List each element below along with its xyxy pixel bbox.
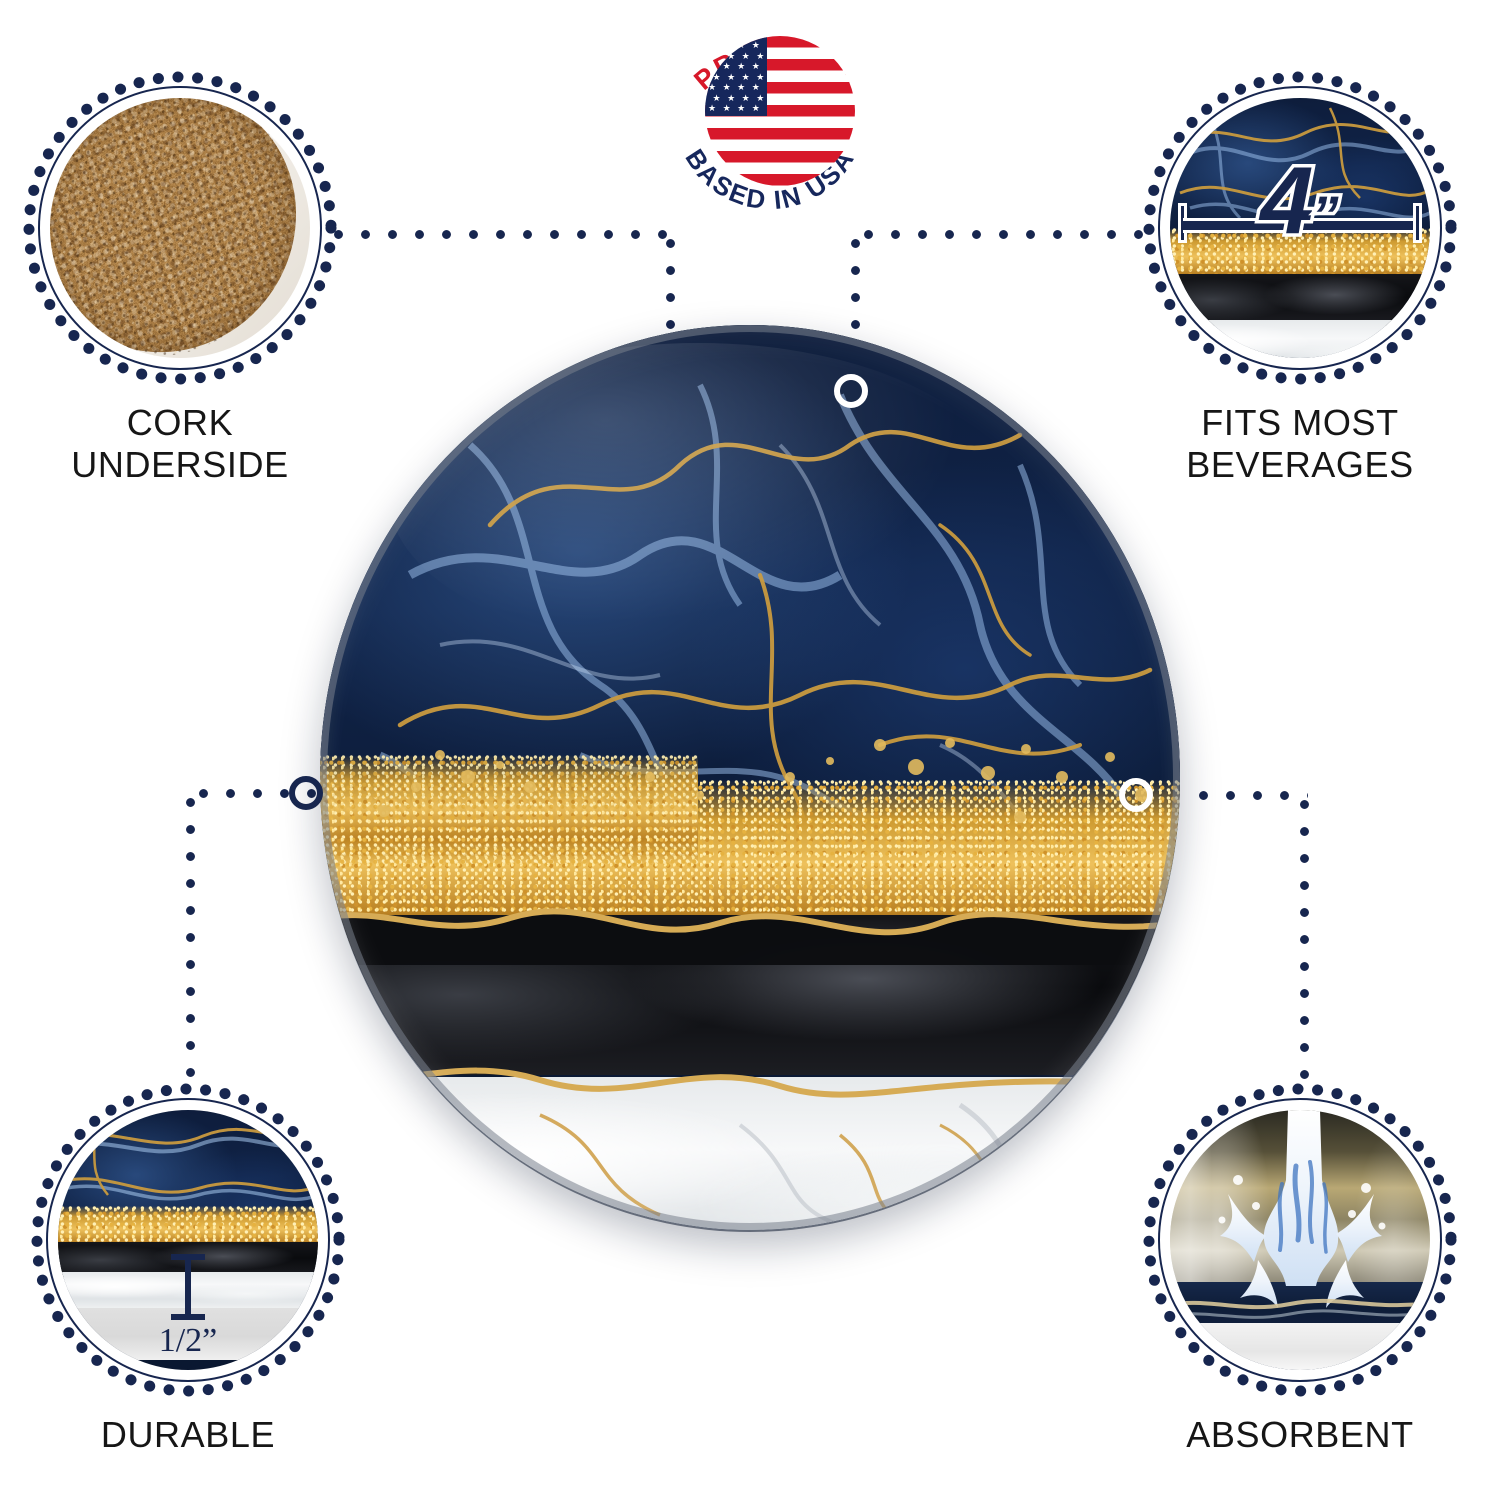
callout-marker-durable: [289, 776, 323, 810]
callout-marker-fits-beverages: [834, 374, 868, 408]
measure-number: 4: [1260, 147, 1311, 254]
feature-label-absorbent: ABSORBENT: [1090, 1414, 1500, 1456]
callout-marker-absorbent: [1119, 778, 1153, 812]
width-measurement-callout: 4”: [1178, 186, 1422, 260]
feature-fits-circle: 4”: [1140, 68, 1460, 388]
absorbent-splash-photo: [1170, 1110, 1430, 1370]
flag-stars: ★ ★ ★ ★ ★ ★ ★ ★ ★ ★ ★ ★ ★ ★ ★ ★ ★ ★ ★ ★ …: [705, 36, 767, 116]
measure-cap-right: [1413, 203, 1422, 243]
usa-flag-icon: ★ ★ ★ ★ ★ ★ ★ ★ ★ ★ ★ ★ ★ ★ ★ ★ ★ ★ ★ ★ …: [705, 36, 855, 186]
infographic-canvas: PROUDLY BASED IN USA ★ ★ ★ ★ ★ ★ ★ ★ ★ ★…: [0, 0, 1500, 1487]
feature-cork-circle: [20, 68, 340, 388]
feature-durable: 1/2” DURABLE: [28, 1080, 348, 1400]
measure-unit-mark: ”: [1312, 185, 1337, 245]
connector-durable-vertical: [186, 789, 195, 1079]
absorbent-coaster-gold-vein: [1170, 1110, 1430, 1370]
feature-absorbent: ABSORBENT: [1140, 1080, 1460, 1400]
thickness-cap-bottom: [171, 1314, 205, 1320]
connector-absorbent-vertical: [1300, 791, 1309, 1081]
feature-durable-circle: 1/2”: [28, 1080, 348, 1400]
proudly-based-in-usa-badge: PROUDLY BASED IN USA ★ ★ ★ ★ ★ ★ ★ ★ ★ ★…: [655, 8, 885, 223]
thickness-measurement-callout: 1/2”: [128, 1254, 248, 1360]
coaster-product-image: [320, 325, 1180, 1230]
connector-fits-horizontal: [855, 230, 1155, 239]
thickness-value-half-inch: 1/2”: [128, 1322, 248, 1360]
cork-underside-photo: [50, 98, 310, 358]
fits-beverages-photo: 4”: [1170, 98, 1430, 358]
fits-white-base: [1170, 320, 1430, 358]
feature-absorbent-circle: [1140, 1080, 1460, 1400]
durable-edge-profile-photo: 1/2”: [58, 1110, 318, 1370]
thickness-stem: [185, 1254, 191, 1320]
feature-fits-most-beverages: 4” FITS MOST BEVERAGES: [1140, 68, 1460, 388]
thickness-i-bar: [171, 1254, 205, 1320]
feature-label-durable: DURABLE: [0, 1414, 398, 1456]
connector-absorbent-horizontal: [1190, 791, 1308, 800]
coaster-white-marble-veins: [320, 325, 1180, 1230]
feature-cork-underside: CORK UNDERSIDE: [20, 68, 340, 388]
measure-value-4-inch: 4”: [1260, 153, 1336, 282]
